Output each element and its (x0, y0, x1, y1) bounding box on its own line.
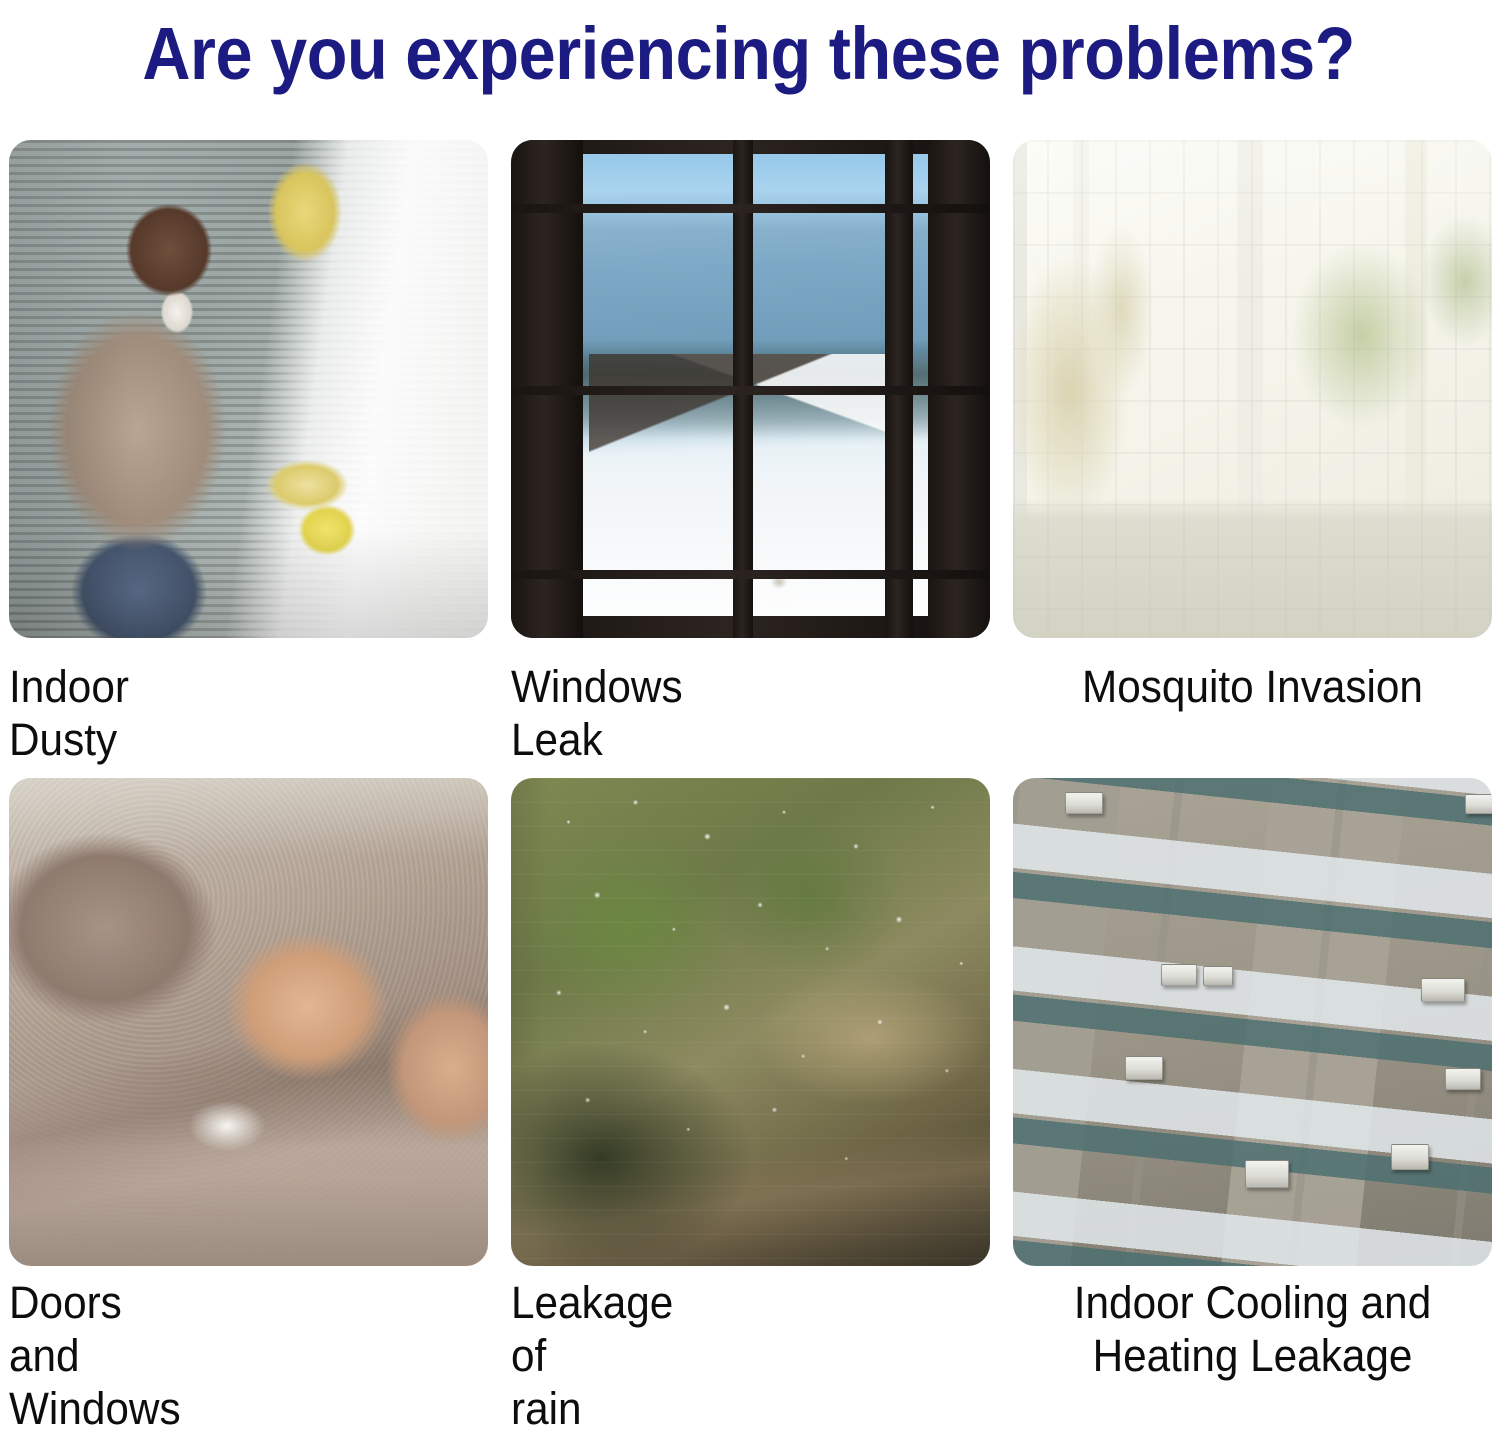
frame-rail-top (511, 204, 990, 213)
ac-unit-icon (1125, 1056, 1163, 1080)
ac-unit-icon (1065, 792, 1103, 814)
photo-indoor-dusty-detail (9, 140, 488, 638)
ac-unit-icon (1161, 964, 1197, 986)
photo-indoor-dusty (9, 140, 488, 638)
page-header: Are you experiencing these problems? (0, 0, 1497, 108)
page-title: Are you experiencing these problems? (142, 17, 1355, 91)
photo-apartment-facade (1013, 778, 1492, 1266)
photo-mosquito-invasion-detail (1013, 140, 1492, 638)
ac-unit-icon (1445, 1068, 1481, 1090)
caption-mosquito-invasion: Mosquito Invasion (1027, 660, 1477, 713)
ac-unit-icon (1391, 1144, 1429, 1170)
ac-unit-icon (1245, 1160, 1289, 1188)
ac-unit-icon (1421, 978, 1465, 1002)
photo-sleeping-baby (9, 778, 488, 1266)
frame-rail-middle (511, 386, 990, 395)
photo-mosquito-invasion (1013, 140, 1492, 638)
photo-windows-leak (511, 140, 990, 638)
ac-unit-icon (1203, 966, 1233, 986)
photo-rain-on-glass (511, 778, 990, 1266)
window-muntin-overlay (511, 140, 990, 638)
photo-rain-on-glass-detail (511, 778, 990, 1266)
photo-sleeping-baby-detail (9, 778, 488, 1266)
ac-unit-icon (1465, 794, 1492, 814)
frame-rail-lower (511, 570, 990, 579)
problems-grid: Indoor Dusty Windows Leak Mosquito I (0, 108, 1497, 1432)
caption-cooling-heating-leakage: Indoor Cooling and Heating Leakage (1027, 1276, 1477, 1382)
